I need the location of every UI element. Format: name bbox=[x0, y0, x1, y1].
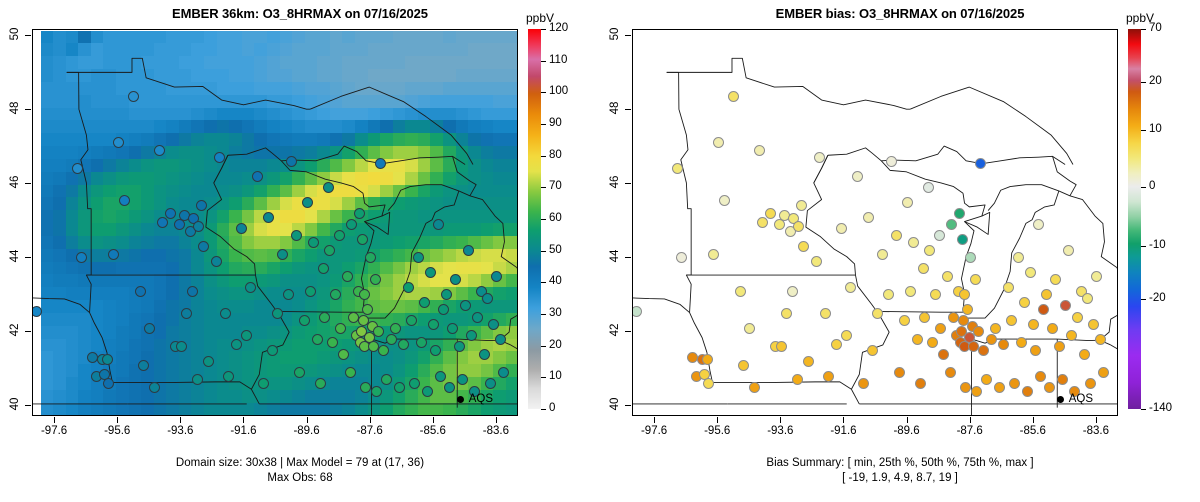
observation-station-marker[interactable] bbox=[291, 230, 302, 241]
bias-station-marker[interactable] bbox=[845, 282, 856, 293]
observation-station-marker[interactable] bbox=[335, 323, 346, 334]
colorbar-tick bbox=[1141, 409, 1146, 410]
bias-station-marker[interactable] bbox=[852, 171, 863, 182]
bias-station-marker[interactable] bbox=[863, 212, 874, 223]
bias-map-plot[interactable]: AQS bbox=[632, 29, 1118, 416]
model-grid-cell bbox=[229, 43, 243, 57]
model-grid-cell bbox=[141, 31, 155, 45]
observation-station-marker[interactable] bbox=[357, 234, 368, 245]
model-grid-cell bbox=[506, 197, 517, 211]
model-grid-cell bbox=[368, 172, 382, 186]
observation-station-marker[interactable] bbox=[386, 334, 397, 345]
observation-station-marker[interactable] bbox=[165, 208, 176, 219]
bias-station-marker[interactable] bbox=[735, 286, 746, 297]
model-grid-cell bbox=[53, 249, 67, 263]
model-grid-cell bbox=[330, 262, 344, 276]
bias-station-marker[interactable] bbox=[1016, 337, 1027, 348]
bias-station-marker[interactable] bbox=[1095, 334, 1106, 345]
bias-station-marker[interactable] bbox=[713, 137, 724, 148]
observation-station-marker[interactable] bbox=[223, 371, 234, 382]
bias-station-marker[interactable] bbox=[1025, 267, 1036, 278]
bias-station-marker[interactable] bbox=[942, 271, 953, 282]
bias-station-marker[interactable] bbox=[927, 337, 938, 348]
observation-station-marker[interactable] bbox=[463, 245, 474, 256]
bias-station-marker[interactable] bbox=[728, 91, 739, 102]
bias-station-marker[interactable] bbox=[811, 256, 822, 267]
bias-station-marker[interactable] bbox=[744, 323, 755, 334]
observation-station-marker[interactable] bbox=[375, 158, 386, 169]
bias-station-marker[interactable] bbox=[990, 323, 1001, 334]
observation-station-marker[interactable] bbox=[444, 382, 455, 393]
model-grid-cell bbox=[506, 262, 517, 276]
bias-station-marker[interactable] bbox=[1030, 345, 1041, 356]
bias-station-marker[interactable] bbox=[1035, 371, 1046, 382]
model-grid-cell bbox=[317, 223, 331, 237]
observation-station-marker[interactable] bbox=[72, 163, 83, 174]
observation-station-marker[interactable] bbox=[390, 323, 401, 334]
model-grid-cell bbox=[430, 56, 444, 70]
observation-station-marker[interactable] bbox=[495, 334, 506, 345]
bias-station-marker[interactable] bbox=[703, 378, 714, 389]
bias-station-marker[interactable] bbox=[934, 230, 945, 241]
observation-station-marker[interactable] bbox=[119, 195, 130, 206]
observation-station-marker[interactable] bbox=[108, 249, 119, 260]
observation-station-marker[interactable] bbox=[193, 221, 204, 232]
bias-station-marker[interactable] bbox=[1044, 382, 1055, 393]
observation-station-marker[interactable] bbox=[305, 286, 316, 297]
observation-station-marker[interactable] bbox=[272, 308, 283, 319]
observation-station-marker[interactable] bbox=[176, 341, 187, 352]
bias-station-marker[interactable] bbox=[738, 360, 749, 371]
observation-station-marker[interactable] bbox=[498, 367, 509, 378]
bias-station-marker[interactable] bbox=[905, 286, 916, 297]
model-grid-cell bbox=[66, 56, 80, 70]
bias-station-marker[interactable] bbox=[719, 195, 730, 206]
model-grid-cell bbox=[456, 313, 470, 327]
observation-station-marker[interactable] bbox=[482, 293, 493, 304]
observation-station-marker[interactable] bbox=[422, 386, 433, 397]
observation-station-marker[interactable] bbox=[252, 171, 263, 182]
bias-station-marker[interactable] bbox=[965, 252, 976, 263]
observation-station-marker[interactable] bbox=[438, 304, 449, 315]
map-boundary-line bbox=[965, 212, 990, 234]
model-grid-cell bbox=[305, 300, 319, 314]
observation-station-marker[interactable] bbox=[315, 378, 326, 389]
model-grid-cell bbox=[229, 287, 243, 301]
observation-station-marker[interactable] bbox=[345, 367, 356, 378]
model-grid-cell bbox=[229, 210, 243, 224]
bias-station-marker[interactable] bbox=[912, 334, 923, 345]
model-grid-cell bbox=[217, 403, 231, 415]
model-grid-cell bbox=[66, 274, 80, 288]
observation-station-marker[interactable] bbox=[338, 349, 349, 360]
model-grid-cell bbox=[280, 274, 294, 288]
bias-station-marker[interactable] bbox=[1038, 304, 1049, 315]
model-grid-cell bbox=[380, 108, 394, 122]
bias-station-marker[interactable] bbox=[973, 326, 984, 337]
bias-station-marker[interactable] bbox=[814, 152, 825, 163]
bias-station-marker[interactable] bbox=[981, 374, 992, 385]
model-grid-cell bbox=[254, 300, 268, 314]
observation-station-marker[interactable] bbox=[472, 312, 483, 323]
bias-station-marker[interactable] bbox=[971, 386, 982, 397]
bias-station-marker[interactable] bbox=[841, 330, 852, 341]
bias-station-marker[interactable] bbox=[823, 371, 834, 382]
observation-station-marker[interactable] bbox=[319, 312, 330, 323]
bias-station-marker[interactable] bbox=[776, 341, 787, 352]
bias-station-marker[interactable] bbox=[948, 312, 959, 323]
bias-station-marker[interactable] bbox=[1072, 312, 1083, 323]
observation-station-marker[interactable] bbox=[433, 219, 444, 230]
model-grid-cell bbox=[91, 133, 105, 147]
observation-station-marker[interactable] bbox=[413, 252, 424, 263]
model-grid-cell bbox=[41, 95, 55, 109]
observation-station-marker[interactable] bbox=[277, 249, 288, 260]
y-axis-tick bbox=[25, 405, 31, 406]
bias-station-marker[interactable] bbox=[1091, 271, 1102, 282]
bias-station-marker[interactable] bbox=[803, 356, 814, 367]
bias-station-marker[interactable] bbox=[1022, 386, 1033, 397]
colorbar-tick-label: 20 bbox=[1149, 75, 1162, 87]
bias-station-marker[interactable] bbox=[867, 345, 878, 356]
bias-station-marker[interactable] bbox=[1028, 319, 1039, 330]
bias-station-marker[interactable] bbox=[998, 339, 1009, 350]
bias-station-marker[interactable] bbox=[883, 289, 894, 300]
bias-station-marker[interactable] bbox=[1088, 319, 1099, 330]
model-grid-cell bbox=[317, 146, 331, 160]
model-grid-cell bbox=[41, 403, 55, 415]
bias-station-marker[interactable] bbox=[754, 145, 765, 156]
model-grid-cell bbox=[405, 262, 419, 276]
bias-station-marker[interactable] bbox=[792, 374, 803, 385]
model-grid-cell bbox=[254, 185, 268, 199]
observation-station-marker[interactable] bbox=[220, 308, 231, 319]
model-grid-cell bbox=[506, 313, 517, 327]
bias-station-marker[interactable] bbox=[1033, 219, 1044, 230]
bias-station-marker[interactable] bbox=[796, 200, 807, 211]
model-grid-cell bbox=[179, 95, 193, 109]
model-grid-cell bbox=[430, 159, 444, 173]
observation-station-marker[interactable] bbox=[430, 345, 441, 356]
bias-station-marker[interactable] bbox=[994, 382, 1005, 393]
bias-station-marker[interactable] bbox=[986, 334, 997, 345]
observation-station-marker[interactable] bbox=[454, 341, 465, 352]
observation-station-marker[interactable] bbox=[378, 345, 389, 356]
model-grid-cell bbox=[141, 69, 155, 83]
model-grid-cell bbox=[116, 313, 130, 327]
observation-station-marker[interactable] bbox=[479, 349, 490, 360]
model-grid-cell bbox=[116, 56, 130, 70]
model-grid-cell bbox=[254, 390, 268, 404]
model-grid-cell bbox=[280, 364, 294, 378]
observation-station-marker[interactable] bbox=[135, 286, 146, 297]
bias-station-marker[interactable] bbox=[872, 308, 883, 319]
observation-station-marker[interactable] bbox=[198, 241, 209, 252]
bias-station-marker[interactable] bbox=[798, 241, 809, 252]
model-grid-cell bbox=[129, 159, 143, 173]
model-grid-cell bbox=[443, 236, 457, 250]
model-grid-cell bbox=[292, 31, 306, 45]
observation-station-marker[interactable] bbox=[157, 217, 168, 228]
model-grid-cell bbox=[254, 43, 268, 57]
model-grid-cell bbox=[229, 197, 243, 211]
model-grid-cell bbox=[217, 133, 231, 147]
model-grid-cell bbox=[41, 146, 55, 160]
bias-station-marker[interactable] bbox=[757, 217, 768, 228]
bias-station-marker[interactable] bbox=[787, 286, 798, 297]
observation-station-marker[interactable] bbox=[144, 323, 155, 334]
bias-station-marker[interactable] bbox=[930, 289, 941, 300]
model-grid-cell bbox=[91, 210, 105, 224]
bias-station-marker[interactable] bbox=[858, 378, 869, 389]
bias-station-marker[interactable] bbox=[923, 182, 934, 193]
aqs-marker-icon bbox=[457, 396, 464, 403]
observation-station-marker[interactable] bbox=[394, 382, 405, 393]
bias-station-marker[interactable] bbox=[1013, 252, 1024, 263]
observation-station-marker[interactable] bbox=[236, 223, 247, 234]
bias-station-marker[interactable] bbox=[902, 197, 913, 208]
model-grid-cell bbox=[78, 172, 92, 186]
bias-station-marker[interactable] bbox=[708, 249, 719, 260]
bias-station-marker[interactable] bbox=[894, 367, 905, 378]
observation-station-marker[interactable] bbox=[419, 297, 430, 308]
bias-station-marker[interactable] bbox=[960, 382, 971, 393]
bias-station-marker[interactable] bbox=[765, 208, 776, 219]
model-grid-cell bbox=[380, 403, 394, 415]
model-grid-cell bbox=[493, 351, 507, 365]
observation-station-marker[interactable] bbox=[324, 245, 335, 256]
model-grid-cell bbox=[317, 210, 331, 224]
observation-station-marker[interactable] bbox=[149, 382, 160, 393]
bias-station-marker[interactable] bbox=[877, 249, 888, 260]
model-grid-cell bbox=[154, 403, 168, 415]
model-grid-cell bbox=[166, 120, 180, 134]
model-grid-cell bbox=[141, 403, 155, 415]
model-grid-cell bbox=[393, 43, 407, 57]
model-grid-cell bbox=[443, 31, 457, 45]
model-map-plot[interactable]: AQS bbox=[32, 29, 518, 416]
observation-station-marker[interactable] bbox=[447, 323, 458, 334]
observation-station-marker[interactable] bbox=[102, 354, 113, 365]
model-grid-cell bbox=[368, 262, 382, 276]
observation-station-marker[interactable] bbox=[348, 312, 359, 323]
bias-station-marker[interactable] bbox=[1019, 297, 1030, 308]
model-grid-cell bbox=[66, 287, 80, 301]
bias-station-marker[interactable] bbox=[836, 223, 847, 234]
observation-station-marker[interactable] bbox=[334, 230, 345, 241]
bias-station-marker[interactable] bbox=[1009, 378, 1020, 389]
model-grid-cell bbox=[355, 120, 369, 134]
model-grid-cell bbox=[191, 133, 205, 147]
model-grid-cell bbox=[154, 326, 168, 340]
model-grid-cell bbox=[116, 236, 130, 250]
model-grid-cell bbox=[141, 300, 155, 314]
model-grid-cell bbox=[317, 274, 331, 288]
observation-station-marker[interactable] bbox=[263, 212, 274, 223]
observation-station-marker[interactable] bbox=[312, 334, 323, 345]
observation-station-marker[interactable] bbox=[258, 378, 269, 389]
observation-station-marker[interactable] bbox=[435, 371, 446, 382]
observation-station-marker[interactable] bbox=[138, 360, 149, 371]
model-grid-cell bbox=[78, 377, 92, 391]
observation-station-marker[interactable] bbox=[342, 271, 353, 282]
model-grid-cell bbox=[355, 82, 369, 96]
model-grid-cell bbox=[493, 172, 507, 186]
model-grid-cell bbox=[217, 390, 231, 404]
colorbar-tick bbox=[541, 377, 546, 378]
model-grid-cell bbox=[242, 364, 256, 378]
model-grid-cell bbox=[468, 56, 482, 70]
bias-station-marker[interactable] bbox=[1098, 367, 1109, 378]
model-grid-cell bbox=[342, 249, 356, 263]
bias-station-marker[interactable] bbox=[1085, 378, 1096, 389]
model-grid-cell bbox=[393, 108, 407, 122]
model-grid-cell bbox=[141, 43, 155, 57]
bias-station-marker[interactable] bbox=[781, 308, 792, 319]
model-grid-cell bbox=[229, 236, 243, 250]
bias-station-marker[interactable] bbox=[820, 308, 831, 319]
model-grid-cell bbox=[418, 95, 432, 109]
model-grid-cell bbox=[254, 56, 268, 70]
colorbar-tick bbox=[541, 219, 546, 220]
bias-station-marker[interactable] bbox=[959, 289, 970, 300]
bias-station-marker[interactable] bbox=[1063, 245, 1074, 256]
bias-station-marker[interactable] bbox=[970, 274, 981, 285]
model-grid-cell bbox=[292, 274, 306, 288]
bias-station-marker[interactable] bbox=[908, 237, 919, 248]
model-grid-cell bbox=[317, 351, 331, 365]
observation-station-marker[interactable] bbox=[211, 256, 222, 267]
observation-station-marker[interactable] bbox=[241, 330, 252, 341]
model-grid-cell bbox=[317, 43, 331, 57]
bias-station-marker[interactable] bbox=[1066, 330, 1077, 341]
bias-station-marker[interactable] bbox=[1057, 374, 1068, 385]
model-grid-cell bbox=[179, 120, 193, 134]
model-grid-cell bbox=[129, 120, 143, 134]
bias-station-marker[interactable] bbox=[1041, 289, 1052, 300]
x-axis-tick bbox=[54, 417, 55, 423]
observation-station-marker[interactable] bbox=[154, 145, 165, 156]
model-grid-cell bbox=[179, 31, 193, 45]
bias-station-marker[interactable] bbox=[915, 378, 926, 389]
model-grid-cell bbox=[493, 403, 507, 415]
observation-station-marker[interactable] bbox=[302, 197, 313, 208]
bias-station-marker[interactable] bbox=[1006, 315, 1017, 326]
y-axis-tick-label: 44 bbox=[609, 241, 621, 271]
model-grid-cell bbox=[179, 326, 193, 340]
bias-station-marker[interactable] bbox=[978, 345, 989, 356]
model-grid-cell bbox=[91, 300, 105, 314]
model-grid-cell bbox=[204, 339, 218, 353]
bias-station-marker[interactable] bbox=[793, 221, 804, 232]
bias-station-marker[interactable] bbox=[831, 339, 842, 350]
model-grid-cell bbox=[242, 390, 256, 404]
bias-station-marker[interactable] bbox=[676, 252, 687, 263]
model-grid-cell bbox=[41, 31, 55, 45]
model-grid-cell bbox=[66, 120, 80, 134]
bias-station-marker[interactable] bbox=[957, 234, 968, 245]
bias-station-marker[interactable] bbox=[1050, 274, 1061, 285]
model-grid-cell bbox=[493, 108, 507, 122]
model-grid-cell bbox=[355, 146, 369, 160]
model-grid-cell bbox=[393, 364, 407, 378]
bias-station-marker[interactable] bbox=[924, 245, 935, 256]
x-axis-tick-label: -97.6 bbox=[624, 425, 684, 437]
model-grid-cell bbox=[292, 403, 306, 415]
model-grid-cell bbox=[267, 56, 281, 70]
bias-station-marker[interactable] bbox=[886, 156, 897, 167]
bias-station-marker[interactable] bbox=[962, 304, 973, 315]
model-grid-cell bbox=[368, 43, 382, 57]
model-grid-cell bbox=[41, 185, 55, 199]
model-grid-cell bbox=[506, 274, 517, 288]
bias-station-marker[interactable] bbox=[749, 382, 760, 393]
bias-station-marker[interactable] bbox=[1082, 293, 1093, 304]
bias-station-marker[interactable] bbox=[975, 158, 986, 169]
bias-station-marker[interactable] bbox=[1079, 349, 1090, 360]
model-grid-cell bbox=[330, 133, 344, 147]
observation-station-marker[interactable] bbox=[181, 308, 192, 319]
observation-station-marker[interactable] bbox=[32, 306, 42, 317]
model-grid-cell bbox=[430, 172, 444, 186]
model-grid-cell bbox=[305, 82, 319, 96]
observation-station-marker[interactable] bbox=[354, 208, 365, 219]
model-grid-cell bbox=[418, 82, 432, 96]
model-grid-cell bbox=[53, 300, 67, 314]
bias-station-marker[interactable] bbox=[918, 263, 929, 274]
bias-station-marker[interactable] bbox=[702, 354, 713, 365]
model-grid-cell bbox=[330, 146, 344, 160]
model-grid-cell bbox=[481, 197, 495, 211]
bias-station-marker[interactable] bbox=[1003, 282, 1014, 293]
observation-station-marker[interactable] bbox=[323, 182, 334, 193]
bias-station-marker[interactable] bbox=[891, 230, 902, 241]
model-grid-cell bbox=[191, 82, 205, 96]
model-grid-cell bbox=[91, 172, 105, 186]
colorbar-tick-label: 110 bbox=[549, 54, 567, 66]
model-grid-cell bbox=[267, 274, 281, 288]
observation-station-marker[interactable] bbox=[403, 282, 414, 293]
model-grid-cell bbox=[129, 56, 143, 70]
bias-station-marker[interactable] bbox=[945, 367, 956, 378]
bias-station-marker[interactable] bbox=[1060, 300, 1071, 311]
model-grid-cell bbox=[280, 403, 294, 415]
bias-station-marker[interactable] bbox=[672, 163, 683, 174]
bias-station-marker[interactable] bbox=[935, 323, 946, 334]
model-grid-cell bbox=[204, 69, 218, 83]
bias-station-marker[interactable] bbox=[632, 306, 642, 317]
model-grid-cell bbox=[493, 287, 507, 301]
model-grid-cell bbox=[242, 82, 256, 96]
observation-station-marker[interactable] bbox=[187, 286, 198, 297]
y-axis-tick bbox=[625, 257, 631, 258]
model-grid-cell bbox=[78, 262, 92, 276]
observation-station-marker[interactable] bbox=[203, 356, 214, 367]
bias-station-marker[interactable] bbox=[1047, 323, 1058, 334]
observation-station-marker[interactable] bbox=[214, 152, 225, 163]
model-grid-cell bbox=[229, 262, 243, 276]
bias-station-marker[interactable] bbox=[899, 315, 910, 326]
bias-station-marker[interactable] bbox=[1054, 341, 1065, 352]
colorbar-tick bbox=[541, 61, 546, 62]
bias-station-marker[interactable] bbox=[954, 208, 965, 219]
bias-station-marker[interactable] bbox=[919, 312, 930, 323]
model-grid-cell bbox=[141, 223, 155, 237]
bias-station-marker[interactable] bbox=[946, 219, 957, 230]
model-grid-cell bbox=[204, 274, 218, 288]
bias-station-marker[interactable] bbox=[938, 349, 949, 360]
model-grid-cell bbox=[267, 172, 281, 186]
